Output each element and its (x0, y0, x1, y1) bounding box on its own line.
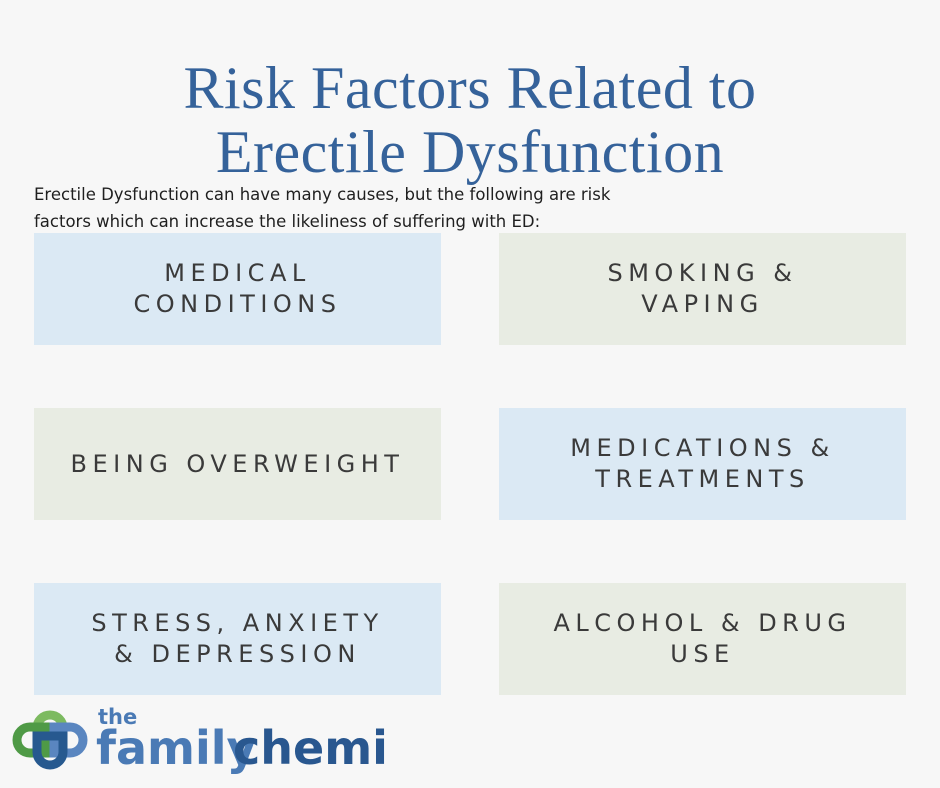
risk-factor-card-smoking-vaping: SMOKING & VAPING (499, 233, 906, 345)
risk-factor-card-being-overweight: BEING OVERWEIGHT (34, 408, 441, 520)
risk-factor-label: SMOKING & VAPING (607, 258, 797, 320)
risk-factor-card-medications-treatments: MEDICATIONS & TREATMENTS (499, 408, 906, 520)
brand-wordmark: the family chemist (96, 698, 388, 782)
page-title-line-2: Erectile Dysfunction (0, 122, 940, 182)
risk-factor-grid: MEDICAL CONDITIONS SMOKING & VAPING BEIN… (34, 233, 906, 695)
risk-factor-card-stress-anxiety-depression: STRESS, ANXIETY & DEPRESSION (34, 583, 441, 695)
intro-line-2: factors which can increase the likelines… (34, 208, 714, 235)
risk-factor-label: MEDICATIONS & TREATMENTS (570, 433, 834, 495)
logo-chemist-text: chemist (233, 721, 388, 775)
intro-paragraph: Erectile Dysfunction can have many cause… (34, 181, 714, 235)
risk-factor-card-alcohol-drug-use: ALCOHOL & DRUG USE (499, 583, 906, 695)
brand-logo: the family chemist (8, 698, 388, 782)
risk-factor-label: ALCOHOL & DRUG USE (553, 608, 851, 670)
page-title: Risk Factors Related to Erectile Dysfunc… (0, 58, 940, 182)
family-chemist-cross-icon (8, 698, 92, 782)
page-title-line-1: Risk Factors Related to (0, 58, 940, 118)
infographic-page: Risk Factors Related to Erectile Dysfunc… (0, 0, 940, 788)
risk-factor-card-medical-conditions: MEDICAL CONDITIONS (34, 233, 441, 345)
intro-line-1: Erectile Dysfunction can have many cause… (34, 181, 714, 208)
risk-factor-label: MEDICAL CONDITIONS (134, 258, 342, 320)
risk-factor-label: BEING OVERWEIGHT (71, 449, 405, 480)
risk-factor-label: STRESS, ANXIETY & DEPRESSION (91, 608, 383, 670)
